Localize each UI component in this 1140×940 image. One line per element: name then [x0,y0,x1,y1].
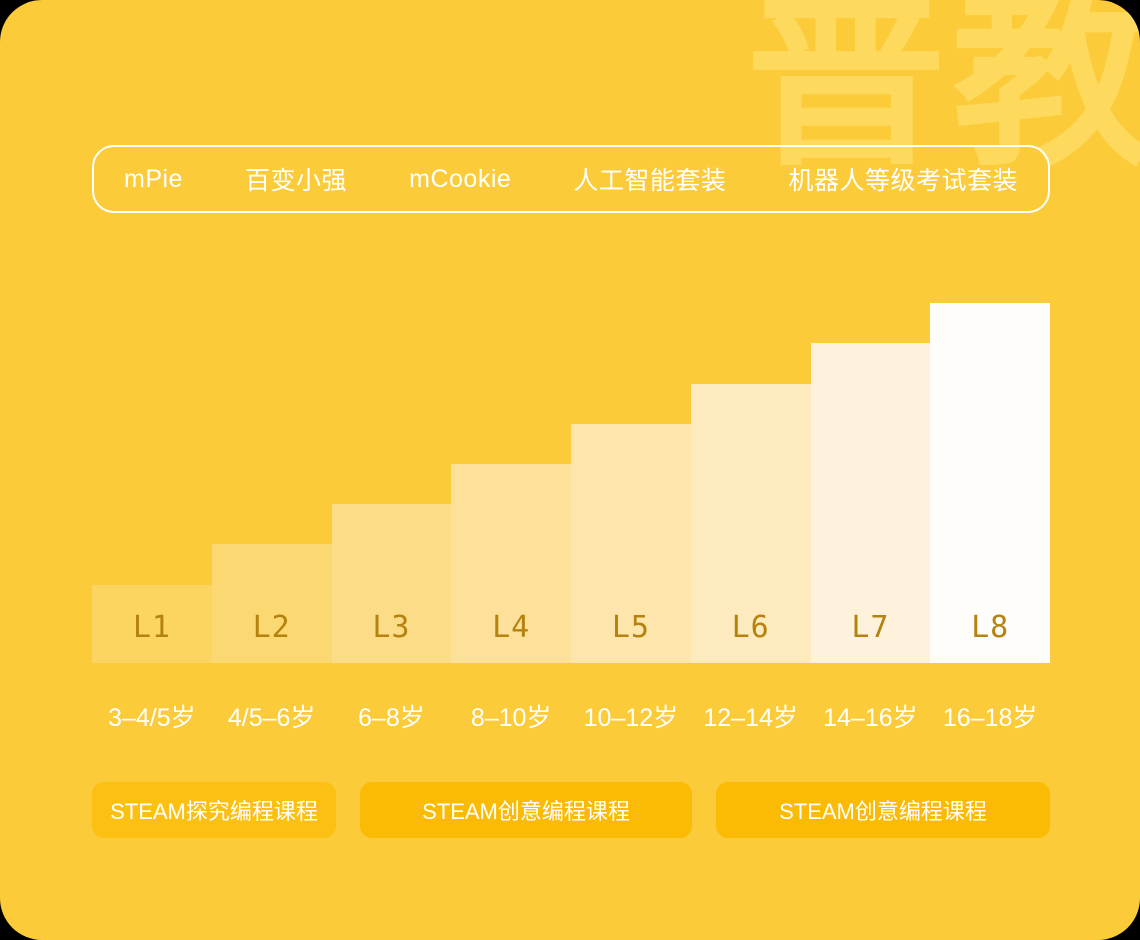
age-label-l1: 3–4/5岁 [92,698,212,734]
age-label-l2: 4/5–6岁 [212,698,332,734]
bar-label-l4: L4 [492,610,530,663]
bar-label-l2: L2 [253,610,291,663]
product-level-card: 普教 mPie 百变小强 mCookie 人工智能套装 机器人等级考试套装 L1… [0,0,1140,940]
bar-label-l6: L6 [732,610,770,663]
tab-ai-kit[interactable]: 人工智能套装 [573,161,726,197]
bar-label-l1: L1 [133,610,171,663]
bar-label-l7: L7 [851,610,889,663]
bar-l8[interactable]: L8 [930,303,1050,663]
bar-l4[interactable]: L4 [451,464,571,663]
tab-robot-exam-kit[interactable]: 机器人等级考试套装 [788,161,1018,197]
bar-label-l5: L5 [612,610,650,663]
course-button-explore[interactable]: STEAM探究编程课程 [92,782,336,838]
level-bar-chart: L1 L2 L3 L4 L5 L6 L7 L8 [92,280,1050,663]
bar-l1[interactable]: L1 [92,585,212,663]
age-label-l4: 8–10岁 [451,698,571,734]
age-label-l6: 12–14岁 [691,698,811,734]
bar-label-l8: L8 [971,610,1009,663]
bar-l5[interactable]: L5 [571,424,691,663]
bar-l6[interactable]: L6 [691,384,811,663]
bar-label-l3: L3 [372,610,410,663]
tab-mpie[interactable]: mPie [124,165,183,194]
course-button-creative-1[interactable]: STEAM创意编程课程 [360,782,692,838]
course-button-row: STEAM探究编程课程 STEAM创意编程课程 STEAM创意编程课程 [92,782,1050,838]
age-label-l5: 10–12岁 [571,698,691,734]
bar-l7[interactable]: L7 [811,343,931,663]
age-label-l3: 6–8岁 [332,698,452,734]
tab-mcookie[interactable]: mCookie [409,165,511,194]
age-range-row: 3–4/5岁 4/5–6岁 6–8岁 8–10岁 10–12岁 12–14岁 1… [92,698,1050,734]
bar-l2[interactable]: L2 [212,544,332,663]
age-label-l7: 14–16岁 [811,698,931,734]
age-label-l8: 16–18岁 [930,698,1050,734]
course-button-creative-2[interactable]: STEAM创意编程课程 [716,782,1050,838]
bar-l3[interactable]: L3 [332,504,452,663]
tab-baibianxiaoqiang[interactable]: 百变小强 [245,161,347,197]
product-tab-bar: mPie 百变小强 mCookie 人工智能套装 机器人等级考试套装 [92,145,1050,213]
